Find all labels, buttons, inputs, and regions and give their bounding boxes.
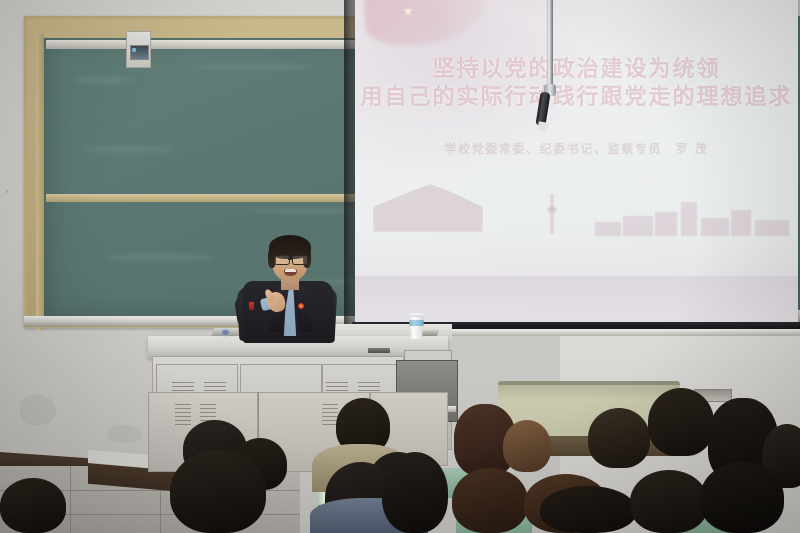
audience-head — [382, 452, 448, 533]
audience-head — [648, 388, 714, 456]
skyline-building — [623, 216, 653, 236]
laptop-indicator-light — [222, 330, 229, 335]
chalk-smudge — [84, 146, 174, 153]
skyline-building — [681, 202, 697, 236]
eyeglasses-bridge — [288, 258, 293, 260]
slide-subtitle: 学校党委常委、纪委书记、监察专员 罗 茂 — [355, 140, 798, 157]
blackboard-left-post — [36, 34, 44, 330]
skyline-building — [595, 222, 621, 236]
wall-speck — [6, 190, 8, 193]
skyline-building — [701, 218, 729, 236]
control-box-led-icon — [132, 48, 136, 52]
audience-head — [236, 470, 312, 533]
chalk-smudge — [104, 253, 214, 262]
wall-stain — [20, 395, 56, 425]
audience-head — [503, 420, 551, 472]
skyline-building — [731, 210, 751, 236]
red-badge-icon — [249, 302, 254, 310]
presenter-eyebrow — [293, 252, 305, 254]
lectern-handle[interactable] — [368, 348, 390, 353]
presenter-teeth — [285, 269, 296, 272]
chalk-smudge — [194, 64, 314, 70]
slide-title-line-2: 用自己的实际行动践行跟党走的理想追求 — [355, 84, 798, 112]
microphone-pole — [547, 0, 553, 90]
party-emblem-pin-icon — [298, 303, 304, 309]
wall-stain — [108, 425, 142, 443]
eyeglasses-icon — [292, 255, 308, 265]
skyline-building — [655, 212, 677, 236]
cup-blue-band — [408, 320, 425, 326]
audience-head — [588, 408, 650, 468]
paper-cup[interactable] — [408, 314, 425, 339]
slide-title-block: 坚持以党的政治建设为统领 用自己的实际行动践行跟党走的理想追求 — [355, 56, 798, 112]
floor-tile-seam — [70, 466, 71, 533]
slide-title-line-1: 坚持以党的政治建设为统领 — [355, 56, 798, 84]
skyline-building — [755, 220, 789, 236]
skyline-tower — [547, 206, 557, 213]
audience-head — [540, 486, 636, 533]
projector-screen: 坚持以党的政治建设为统领 用自己的实际行动践行跟党走的理想追求 学校党委常委、纪… — [355, 0, 798, 324]
audience-head — [452, 468, 528, 533]
audience-head — [0, 478, 66, 533]
wall-control-box[interactable] — [126, 31, 151, 68]
eyeglasses-icon — [274, 255, 290, 265]
chalk-smudge — [74, 76, 134, 84]
audience-head — [700, 462, 784, 533]
audience-head — [630, 470, 708, 533]
cup-rim — [407, 313, 426, 317]
classroom-scene: 坚持以党的政治建设为统领 用自己的实际行动践行跟党走的理想追求 学校党委常委、纪… — [0, 0, 800, 533]
presenter-eyebrow — [275, 252, 287, 254]
skyline-tower — [550, 194, 554, 234]
